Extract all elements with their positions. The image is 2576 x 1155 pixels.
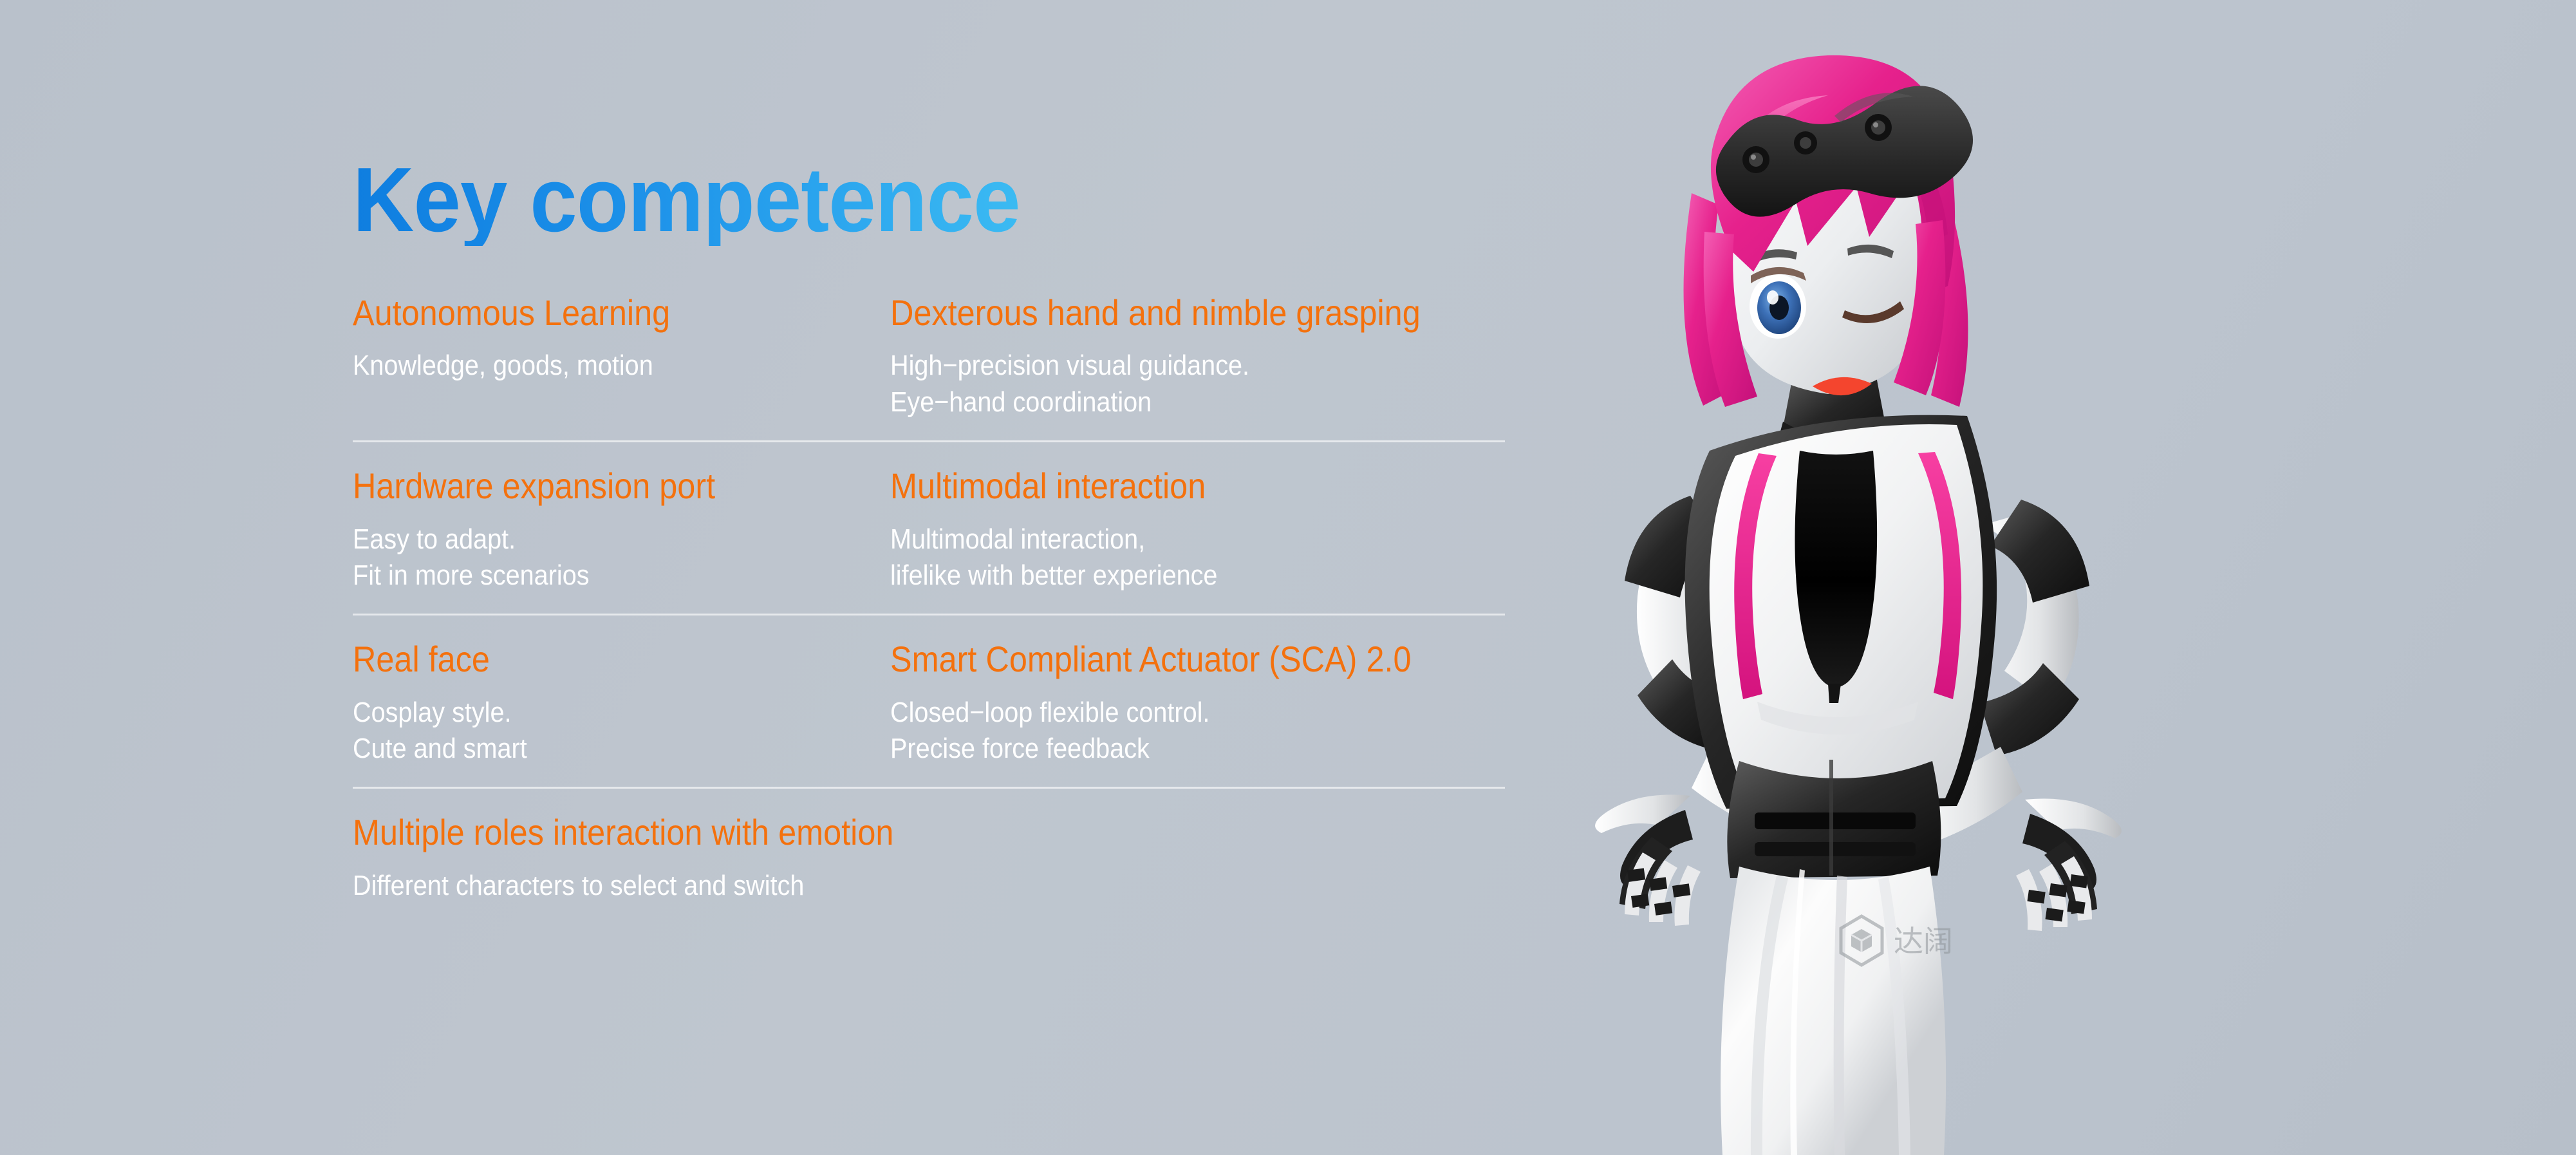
feature-grid: Autonomous Learning Knowledge, goods, mo…: [353, 294, 1505, 926]
robot-right-hand: [2016, 798, 2122, 931]
robot-left-hand: [1595, 794, 1701, 926]
content-panel: Key competence Autonomous Learning Knowl…: [353, 155, 1511, 926]
feature-title: Dexterous hand and nimble grasping: [890, 294, 1374, 332]
feature-item-real-face: Real face Cosplay style. Cute and smart: [353, 640, 890, 767]
feature-item-dexterous-hand: Dexterous hand and nimble grasping High−…: [890, 294, 1428, 420]
feature-item-hardware-expansion-port: Hardware expansion port Easy to adapt. F…: [353, 467, 890, 594]
feature-item-multimodal-interaction: Multimodal interaction Multimodal intera…: [890, 467, 1428, 594]
feature-item-multiple-roles-interaction: Multiple roles interaction with emotion …: [353, 813, 1447, 904]
feature-description: Closed−loop flexible control. Precise fo…: [890, 695, 1374, 767]
feature-row: Real face Cosplay style. Cute and smart …: [353, 615, 1505, 789]
page-title: Key competence: [353, 155, 1430, 246]
feature-item-autonomous-learning: Autonomous Learning Knowledge, goods, mo…: [353, 294, 890, 420]
feature-item-smart-compliant-actuator: Smart Compliant Actuator (SCA) 2.0 Close…: [890, 640, 1428, 767]
feature-title: Autonomous Learning: [353, 294, 837, 332]
robot-illustration: 达阔: [1500, 0, 2259, 1155]
slide-root: Key competence Autonomous Learning Knowl…: [0, 0, 2576, 1155]
feature-row: Multiple roles interaction with emotion …: [353, 789, 1505, 926]
feature-title: Multimodal interaction: [890, 467, 1374, 505]
feature-description: Cosplay style. Cute and smart: [353, 695, 837, 767]
feature-description: Knowledge, goods, motion: [353, 348, 837, 384]
feature-description: Multimodal interaction, lifelike with be…: [890, 521, 1374, 594]
feature-title: Smart Compliant Actuator (SCA) 2.0: [890, 640, 1374, 679]
feature-title: Multiple roles interaction with emotion: [353, 813, 1338, 852]
feature-row: Autonomous Learning Knowledge, goods, mo…: [353, 294, 1505, 442]
brand-logo-text: 达阔: [1894, 924, 1953, 959]
feature-row: Hardware expansion port Easy to adapt. F…: [353, 442, 1505, 615]
robot-torso: [1685, 415, 1997, 809]
feature-title: Hardware expansion port: [353, 467, 837, 505]
robot-lower-body: [1721, 867, 1946, 1155]
feature-title: Real face: [353, 640, 837, 679]
feature-description: Different characters to select and switc…: [353, 868, 1338, 904]
feature-description: Easy to adapt. Fit in more scenarios: [353, 521, 837, 594]
feature-description: High−precision visual guidance. Eye−hand…: [890, 348, 1374, 420]
